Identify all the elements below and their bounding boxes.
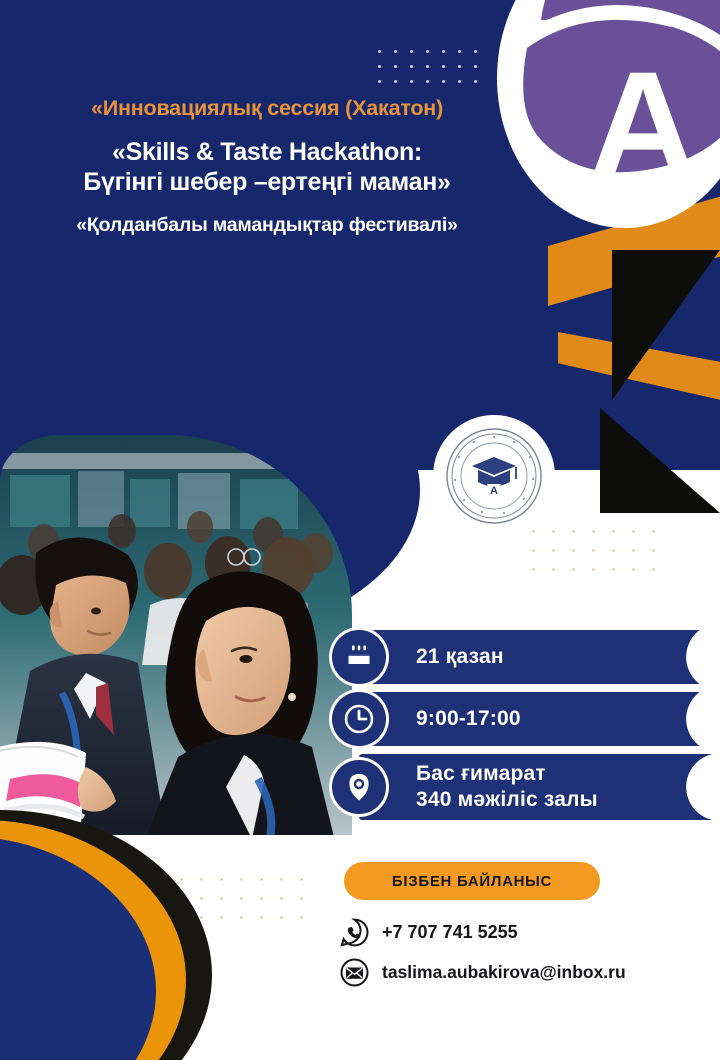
calendar-icon-glyph [345,643,373,671]
eagle-emblem-artwork: A [497,0,720,228]
decor-dot [652,549,655,552]
decor-dot [200,916,203,919]
decor-dot [260,897,263,900]
decor-dot [200,878,203,881]
decor-dot [572,568,575,571]
info-row-time: 9:00-17:00 [332,692,598,746]
decor-dot [442,50,445,53]
decor-dot [410,65,413,68]
decor-dot [652,568,655,571]
decor-dot [220,897,223,900]
envelope-icon-glyph [340,958,369,987]
decor-dot [532,530,535,533]
contact-phone-text: +7 707 741 5255 [382,922,518,943]
decor-dot [240,878,243,881]
decor-dot [426,65,429,68]
decor-dot [378,80,381,83]
decor-dot [378,50,381,53]
headline-line-3: Бүгінгі шебер –ертеңгі маман» [14,167,520,197]
location-pin-icon-glyph [345,772,373,802]
contact-email-text: taslima.aubakirova@inbox.ru [382,962,626,983]
decor-dot [552,530,555,533]
info-row-date: 21 қазан [332,630,598,684]
headline-block: «Инновациялық сессия (Хакатон) «Skills &… [0,96,520,237]
decor-dot [458,80,461,83]
decor-dot [612,549,615,552]
decor-dot [394,50,397,53]
clock-icon [332,692,386,746]
decor-dot [592,549,595,552]
decor-dot [632,549,635,552]
academy-seal-icon: A [442,424,546,528]
eagle-emblem: A [497,0,720,258]
decor-dot [632,568,635,571]
decor-dot [220,916,223,919]
info-text-date: 21 қазан [416,644,504,670]
contact-badge[interactable]: БІЗБЕН БАЙЛАНЫС [344,862,600,900]
decor-dot [300,916,303,919]
academy-seal-logo: A [438,420,550,532]
decor-dot [240,897,243,900]
decor-dot [532,549,535,552]
decor-dot [474,50,477,53]
decor-dot [260,878,263,881]
headline-line-2: «Skills & Taste Hackathon: [14,137,520,167]
decor-dot [632,530,635,533]
decor-dot [426,80,429,83]
decor-dot [474,80,477,83]
decor-dot [612,530,615,533]
event-info-list: 21 қазан 9:00-17:00 Бас ғимарат 3 [332,630,598,828]
headline-line-1: «Инновациялық сессия (Хакатон) [14,96,520,121]
decor-dot [458,65,461,68]
info-text-time: 9:00-17:00 [416,706,521,732]
info-bar-date [359,630,720,684]
decor-dot [180,878,183,881]
info-bar-time [359,692,720,746]
decor-dot [280,916,283,919]
svg-text:A: A [490,485,498,497]
photo-illustration [0,435,352,835]
decor-dot [394,65,397,68]
poster-canvas: A «Инновациялық сессия (Хакатон) «Skills… [0,0,720,1060]
decor-dot [300,878,303,881]
black-wedge-upper [612,250,720,400]
decor-dot [394,80,397,83]
decor-dot [220,878,223,881]
decor-dot [442,80,445,83]
decor-dot [410,50,413,53]
students-audience-photo [0,435,352,835]
decor-dot [240,916,243,919]
whatsapp-icon-glyph [340,918,369,947]
location-pin-icon [332,760,386,814]
decor-dot [410,80,413,83]
decor-dot [426,50,429,53]
decor-dot [280,897,283,900]
decor-dot [572,549,575,552]
decor-dot [442,65,445,68]
envelope-icon [340,958,369,987]
decor-dot [458,50,461,53]
info-row-venue: Бас ғимарат 340 мәжіліс залы [332,754,598,820]
info-text-venue: Бас ғимарат 340 мәжіліс залы [416,761,598,812]
decor-dot [300,897,303,900]
black-wedge-lower [600,408,720,513]
svg-text:A: A [589,40,697,208]
decor-dot [200,897,203,900]
decor-dot [592,568,595,571]
decor-dot [532,568,535,571]
decor-dot [378,65,381,68]
contact-phone-line[interactable]: +7 707 741 5255 [340,918,518,947]
decor-dot [260,916,263,919]
decor-dot [572,530,575,533]
calendar-icon [332,630,386,684]
decor-dot [612,568,615,571]
eagle-emblem-circle: A [497,0,720,228]
decor-dot [474,65,477,68]
decor-dot [280,878,283,881]
decor-dot [552,568,555,571]
decor-dot [592,530,595,533]
headline-line-4: «Қолданбалы мамандықтар фестивалі» [14,214,520,237]
contact-email-line[interactable]: taslima.aubakirova@inbox.ru [340,958,626,987]
clock-icon-glyph [344,704,374,734]
whatsapp-icon [340,918,369,947]
decor-dot [552,549,555,552]
decor-dot [652,530,655,533]
headline-main: «Skills & Taste Hackathon: Бүгінгі шебер… [14,137,520,197]
